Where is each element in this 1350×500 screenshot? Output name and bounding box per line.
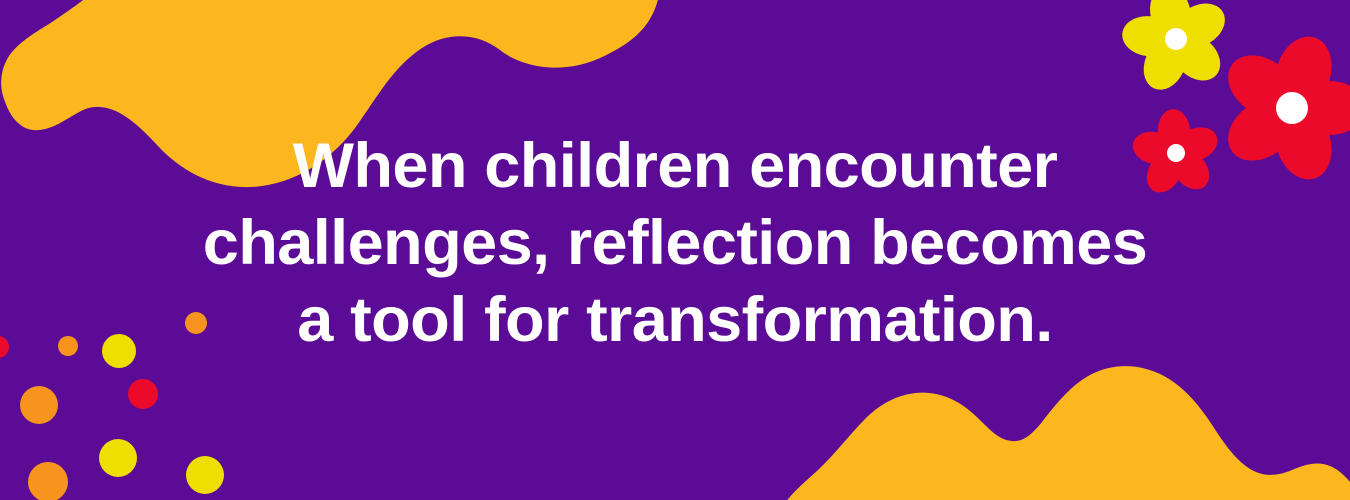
orange-dot-2 (58, 336, 78, 356)
yellow-dot-1 (102, 334, 136, 368)
orange-dot-1 (185, 312, 207, 334)
orange-dot-3 (20, 386, 58, 424)
orange-dot-4 (28, 462, 68, 500)
yellow-flower-large (1108, 0, 1243, 105)
yellow-dot-2 (99, 439, 137, 477)
red-flower-small (1126, 105, 1227, 202)
red-dot-edge (0, 336, 9, 358)
decorations-layer (0, 0, 1350, 500)
quote-banner: When children encounter challenges, refl… (0, 0, 1350, 500)
red-dot-1 (128, 379, 158, 409)
red-flower-large (1194, 13, 1350, 204)
yellow-dot-3 (186, 456, 224, 494)
